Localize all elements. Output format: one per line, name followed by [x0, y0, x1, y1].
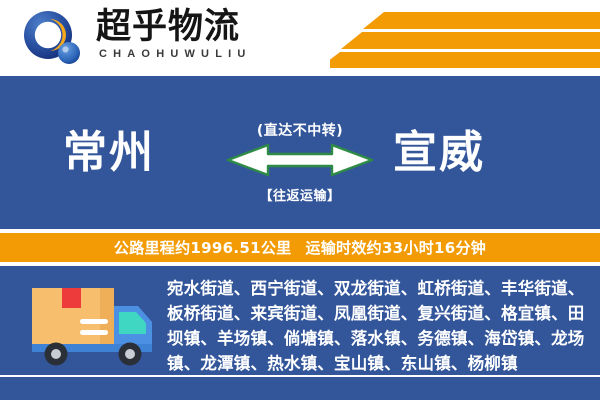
roundtrip-note: 【往返运输】 — [0, 185, 600, 204]
coverage-area-list: 宛水街道、西宁街道、双龙街道、虹桥街道、丰华街道、板桥街道、来宾街道、凤凰街道、… — [167, 276, 593, 376]
brand-name-cn: 超乎物流 — [96, 8, 240, 46]
logistics-route-banner: 超乎物流 CHAOHUWULIU 常州 宣威 (直达不中转) 【往返运输】 公路… — [0, 0, 600, 400]
direct-shipping-note: (直达不中转) — [0, 120, 600, 140]
divider-bottom — [0, 375, 600, 377]
circle-crescent-logo-icon — [22, 10, 84, 66]
divider-above-stats — [0, 229, 600, 231]
banner-header: 超乎物流 CHAOHUWULIU — [0, 0, 600, 72]
stats-bar: 公路里程约1996.51公里 运输时效约33小时16分钟 — [0, 233, 600, 262]
divider-below-stats — [0, 263, 600, 265]
duration-text: 运输时效约33小时16分钟 — [305, 237, 486, 258]
distance-text: 公路里程约1996.51公里 — [114, 237, 292, 258]
bidirectional-arrow-icon — [226, 143, 374, 177]
brand-name-en: CHAOHUWULIU — [99, 48, 252, 60]
delivery-truck-icon — [18, 282, 158, 374]
speed-stripes-icon — [330, 4, 600, 68]
